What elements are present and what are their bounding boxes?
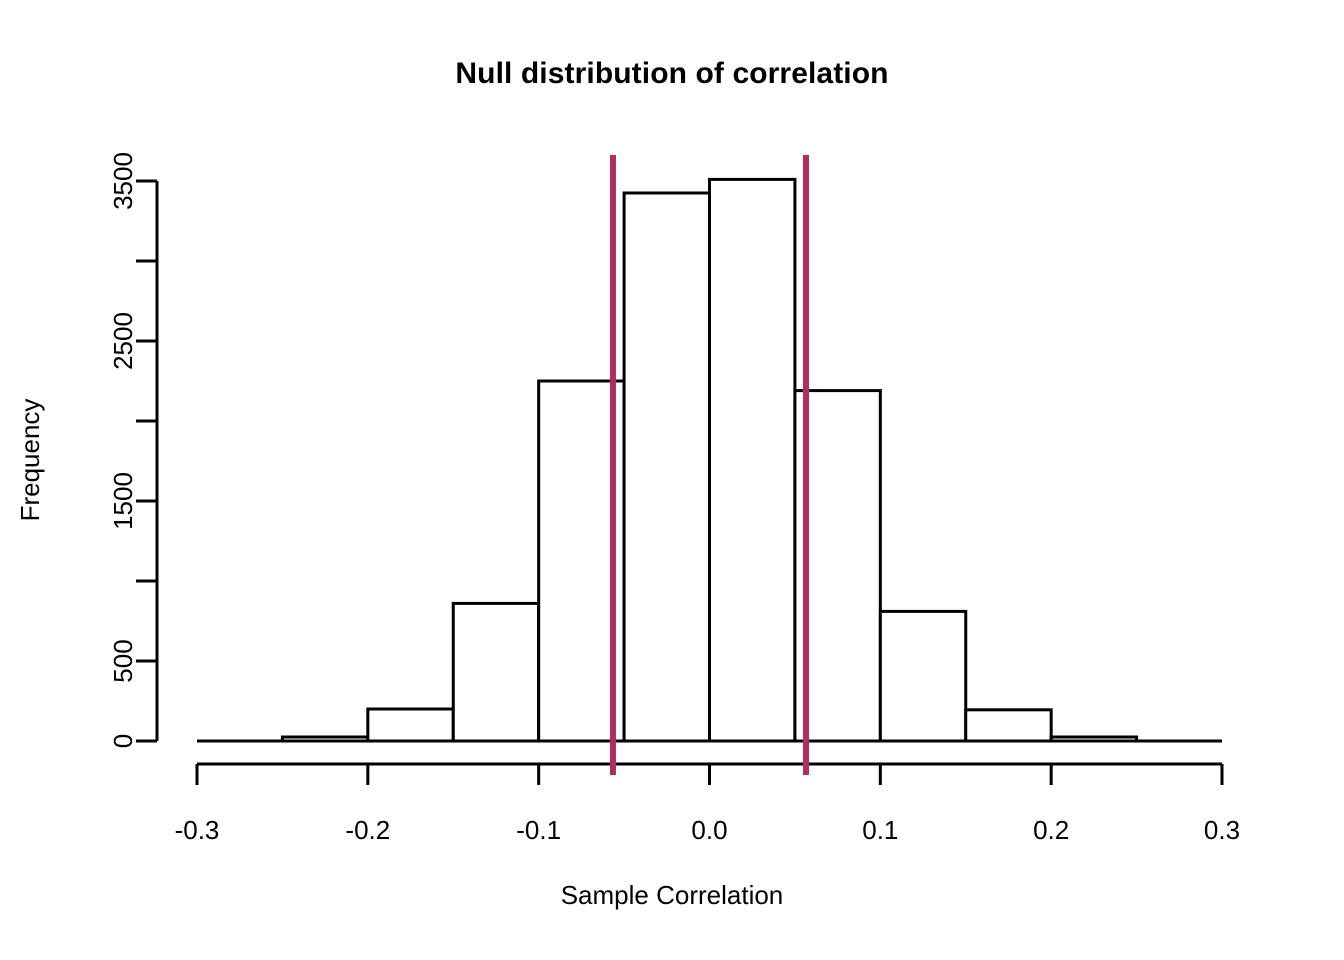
histogram-bar bbox=[710, 179, 795, 741]
histogram-bar bbox=[453, 603, 538, 741]
x-tick-label: 0.0 bbox=[691, 815, 727, 845]
histogram-bar bbox=[880, 611, 965, 741]
histogram-bar bbox=[624, 193, 709, 741]
y-tick-label: 2500 bbox=[108, 312, 138, 370]
x-axis: -0.3-0.2-0.10.00.10.20.3 bbox=[175, 764, 1240, 845]
x-tick-label: -0.2 bbox=[345, 815, 390, 845]
y-tick-label: 0 bbox=[108, 734, 138, 748]
y-tick-label: 500 bbox=[108, 639, 138, 682]
y-axis: 0500150025003500 bbox=[108, 152, 157, 748]
x-tick-label: 0.3 bbox=[1204, 815, 1240, 845]
y-tick-label: 3500 bbox=[108, 152, 138, 210]
x-tick-label: -0.3 bbox=[175, 815, 220, 845]
histogram-bar bbox=[966, 710, 1051, 741]
y-tick-label: 1500 bbox=[108, 472, 138, 530]
x-tick-label: 0.1 bbox=[862, 815, 898, 845]
x-tick-label: -0.1 bbox=[516, 815, 561, 845]
histogram-bar bbox=[368, 709, 453, 741]
histogram-plot: Null distribution of correlation Frequen… bbox=[0, 0, 1344, 960]
x-tick-label: 0.2 bbox=[1033, 815, 1069, 845]
plot-canvas: 0500150025003500 -0.3-0.2-0.10.00.10.20.… bbox=[0, 0, 1344, 960]
histogram-bars bbox=[282, 179, 1136, 741]
